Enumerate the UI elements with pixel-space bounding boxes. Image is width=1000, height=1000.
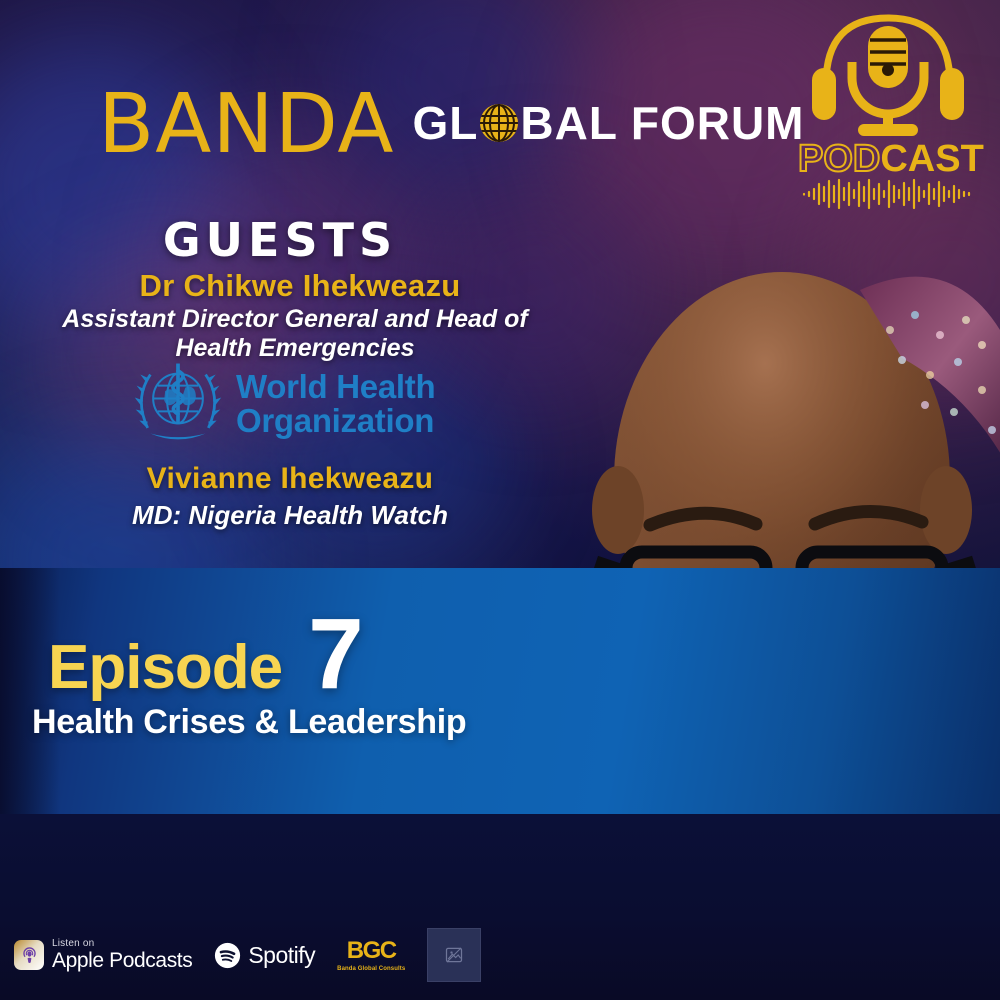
spotify-badge[interactable]: Spotify: [214, 942, 315, 969]
brand-logo: BANDA GL BAL FORUM: [98, 88, 805, 162]
bgc-subtitle: Banda Global Consults: [337, 966, 405, 972]
podcast-episode-poster: BANDA GL BAL FORUM: [0, 0, 1000, 1000]
episode-number: 7: [308, 612, 364, 697]
apple-podcasts-icon: [14, 940, 44, 970]
audio-waveform-icon: [798, 178, 978, 210]
who-emblem-icon: [132, 358, 224, 450]
who-name: World Health Organization: [236, 370, 435, 439]
podcast-wordmark: PODCAST: [798, 140, 978, 178]
broken-image-icon: [427, 928, 481, 982]
bgc-mark: BGC: [347, 939, 396, 963]
brand-global-before: GL: [412, 96, 478, 150]
episode-label: Episode: [48, 632, 282, 703]
apple-podcasts-badge[interactable]: Listen on Apple Podcasts: [14, 939, 192, 971]
podcast-badge: PODCAST: [798, 10, 978, 205]
spotify-icon: [214, 942, 241, 969]
guest-name-2: Vivianne Ihekweazu: [0, 462, 580, 496]
brand-subtitle-global-forum: GL BAL FORUM: [412, 96, 804, 150]
microphone-with-headphones-icon: [798, 10, 978, 140]
who-name-line2: Organization: [236, 404, 435, 438]
who-logo: World Health Organization: [132, 358, 435, 450]
guest-role-2: MD: Nigeria Health Watch: [0, 500, 580, 531]
guest-name-1: Dr Chikwe Ihekweazu: [0, 268, 600, 304]
apple-podcasts-title: Apple Podcasts: [52, 950, 192, 971]
brand-global-after: BAL FORUM: [520, 96, 804, 150]
brand-name-banda: BANDA: [98, 88, 394, 162]
bgc-logo[interactable]: BGC Banda Global Consults: [337, 939, 405, 972]
platform-badges: Listen on Apple Podcasts Spotify BGC Ban…: [14, 928, 481, 982]
episode-title: Health Crises & Leadership: [32, 703, 466, 742]
globe-icon: [480, 104, 518, 142]
spotify-wordmark: Spotify: [248, 942, 315, 969]
who-name-line1: World Health: [236, 370, 435, 404]
guests-heading: GUESTS: [0, 213, 560, 267]
podcast-word-cast: CAST: [880, 138, 983, 180]
apple-podcasts-text: Listen on Apple Podcasts: [52, 939, 192, 971]
episode-row: Episode 7: [48, 612, 364, 703]
apple-podcasts-prefix: Listen on: [52, 939, 192, 949]
guest-role-1: Assistant Director General and Head of H…: [30, 305, 560, 363]
podcast-word-pod: POD: [798, 138, 880, 180]
